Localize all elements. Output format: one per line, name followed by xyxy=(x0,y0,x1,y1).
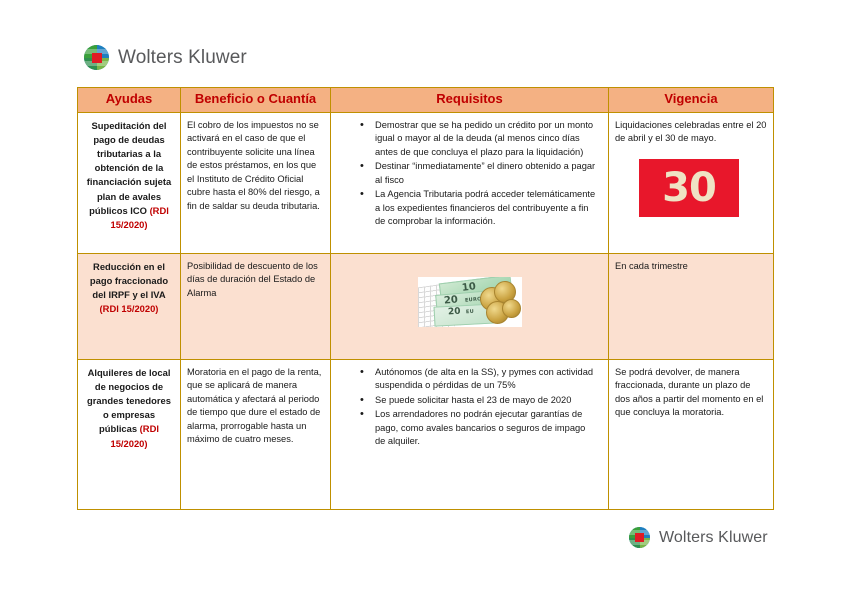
numero-30-label: 30 xyxy=(662,168,716,208)
column-header-beneficio: Beneficio o Cuantía xyxy=(181,88,331,113)
cell-ayudas: Supeditación del pago de deudas tributar… xyxy=(78,113,181,254)
ayudas-reference: (RDl 15/2020) xyxy=(100,303,159,314)
list-item: Autónomos (de alta en la SS), y pymes co… xyxy=(375,366,602,393)
cell-requisitos: 10 20 20 EURO EU xyxy=(331,254,609,360)
wolters-kluwer-logo-top: Wolters Kluwer xyxy=(84,45,247,70)
cell-requisitos: Demostrar que se ha pedido un crédito po… xyxy=(331,113,609,254)
column-header-ayudas: Ayudas xyxy=(78,88,181,113)
brand-name-top: Wolters Kluwer xyxy=(118,47,247,69)
table-row: Reducción en el pago fraccionado del IRP… xyxy=(78,254,774,360)
column-header-requisitos: Requisitos xyxy=(331,88,609,113)
banknote-label-eu: EU xyxy=(465,310,473,315)
table-row: Supeditación del pago de deudas tributar… xyxy=(78,113,774,254)
aid-measures-table: Ayudas Beneficio o Cuantía Requisitos Vi… xyxy=(77,87,774,510)
cell-ayudas: Alquileres de local de negocios de grand… xyxy=(78,360,181,510)
vigencia-text: Liquidaciones celebradas entre el 20 de … xyxy=(615,119,767,146)
cell-beneficio: El cobro de los impuestos no se activará… xyxy=(181,113,331,254)
wolters-kluwer-globe-icon xyxy=(84,45,109,70)
cell-ayudas: Reducción en el pago fraccionado del IRP… xyxy=(78,254,181,360)
coin-shape xyxy=(502,299,521,318)
ayudas-text: Reducción en el pago fraccionado del IRP… xyxy=(90,261,168,300)
ayudas-text: Supeditación del pago de deudas tributar… xyxy=(87,120,171,216)
cell-beneficio: Moratoria en el pago de la renta, que se… xyxy=(181,360,331,510)
euro-money-image: 10 20 20 EURO EU xyxy=(418,277,522,327)
numero-30-image: 30 xyxy=(639,159,739,217)
list-item: Se puede solicitar hasta el 23 de mayo d… xyxy=(375,394,602,407)
list-item: Los arrendadores no podrán ejecutar gara… xyxy=(375,408,602,448)
requisitos-list: Autónomos (de alta en la SS), y pymes co… xyxy=(337,366,602,449)
list-item: La Agencia Tributaria podrá acceder tele… xyxy=(375,188,602,228)
banknote-label-20-a: 20 xyxy=(443,295,458,306)
table-row: Alquileres de local de negocios de grand… xyxy=(78,360,774,510)
table-header-row: Ayudas Beneficio o Cuantía Requisitos Vi… xyxy=(78,88,774,113)
cell-vigencia: Liquidaciones celebradas entre el 20 de … xyxy=(609,113,774,254)
brand-name-bottom: Wolters Kluwer xyxy=(659,529,768,547)
banknote-label-10: 10 xyxy=(461,282,476,294)
cell-beneficio: Posibilidad de descuento de los días de … xyxy=(181,254,331,360)
cell-requisitos: Autónomos (de alta en la SS), y pymes co… xyxy=(331,360,609,510)
document-page: Wolters Kluwer Ayudas Beneficio o Cuantí… xyxy=(0,0,849,600)
cell-vigencia: Se podrá devolver, de manera fraccionada… xyxy=(609,360,774,510)
requisitos-list: Demostrar que se ha pedido un crédito po… xyxy=(337,119,602,229)
banknote-label-20-b: 20 xyxy=(447,308,460,318)
list-item: Demostrar que se ha pedido un crédito po… xyxy=(375,119,602,159)
column-header-vigencia: Vigencia xyxy=(609,88,774,113)
list-item: Destinar “inmediatamente” el dinero obte… xyxy=(375,160,602,187)
wolters-kluwer-globe-icon xyxy=(629,527,650,548)
cell-vigencia: En cada trimestre xyxy=(609,254,774,360)
wolters-kluwer-logo-bottom: Wolters Kluwer xyxy=(629,527,768,548)
